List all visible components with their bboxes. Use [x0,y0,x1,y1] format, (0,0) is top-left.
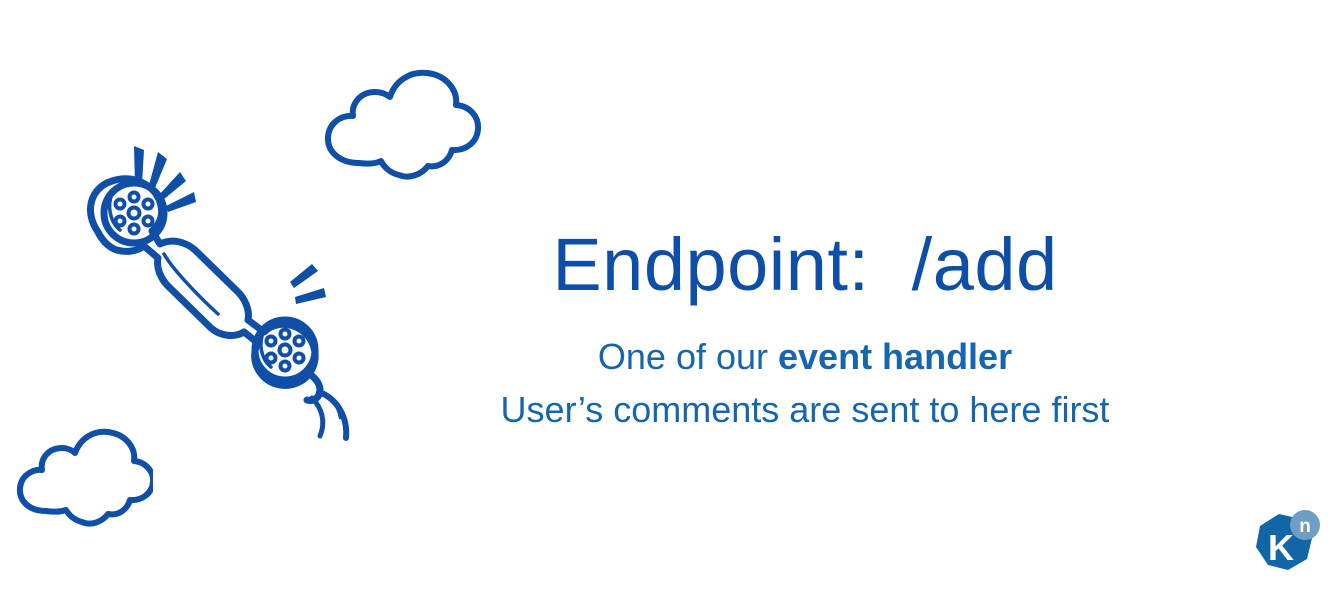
earpiece-hole [116,193,153,234]
subtitle-line-1-emphasis: event handler [778,336,1012,377]
sound-ray [134,146,196,212]
page-title: Endpoint: /add [440,228,1170,302]
mouthpiece-hole [267,330,304,371]
subtitle-block: One of our event handler User’s comments… [440,330,1170,437]
logo-letter-k: K [1268,527,1294,568]
cloud-top-icon [315,65,485,185]
text-block: Endpoint: /add One of our event handler … [440,228,1170,437]
logo-letter-n: n [1299,516,1311,537]
knative-logo: K n [1248,508,1322,582]
subtitle-line-1-prefix: One of our [598,336,778,377]
telephone-handset-icon [68,140,368,460]
sound-ray [290,264,326,304]
cloud-bottom-icon [8,425,153,530]
subtitle-line-2: User’s comments are sent to here first [440,383,1170,436]
subtitle-line-1: One of our event handler [440,330,1170,383]
slide-canvas: Endpoint: /add One of our event handler … [0,0,1343,595]
